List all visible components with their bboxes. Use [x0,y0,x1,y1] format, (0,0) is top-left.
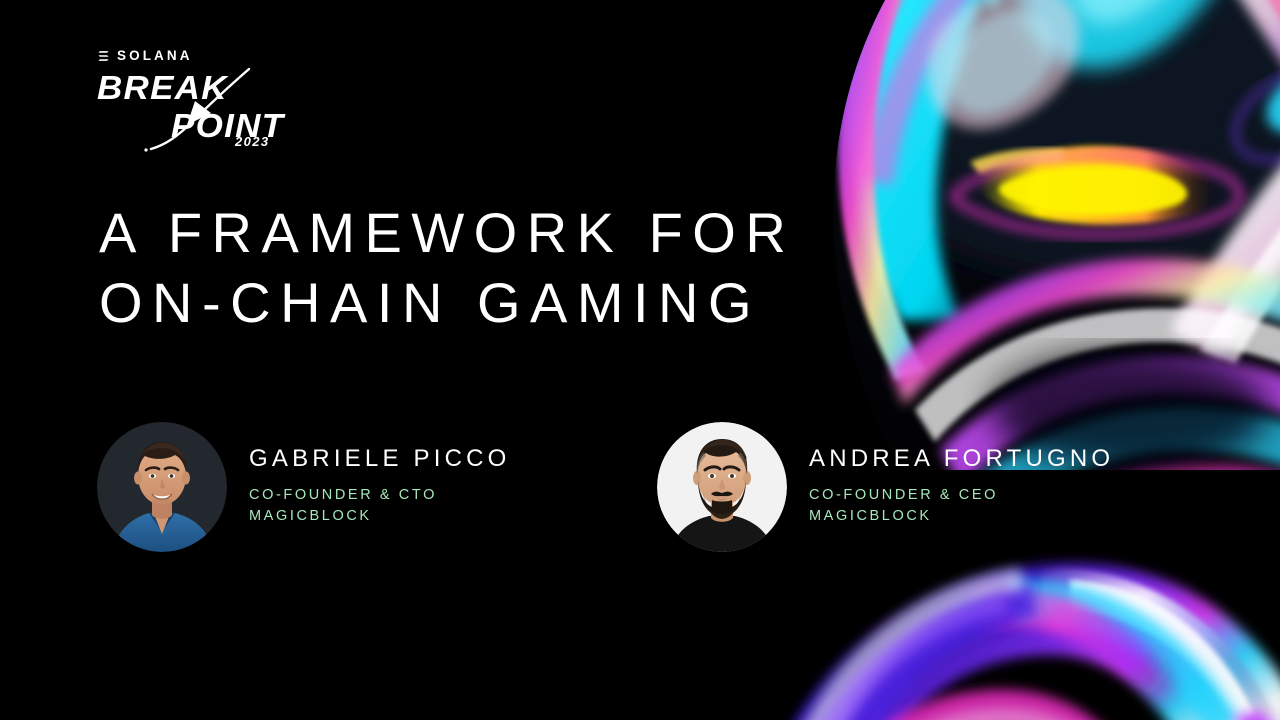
solana-wordmark: SOLANA [117,49,193,63]
presentation-slide: SOLANA BREAK POINT 2023 A FRAMEWORK FOR … [0,0,1280,720]
speaker-role: CO-FOUNDER & CEO [809,485,1114,506]
speaker-portrait-icon [97,422,227,552]
speaker-card: GABRIELE PICCO CO-FOUNDER & CTO MAGICBLO… [97,422,511,552]
breakpoint-wordmark: BREAK POINT 2023 [97,71,327,143]
speaker-card: ANDREA FORTUGNO CO-FOUNDER & CEO MAGICBL… [657,422,1114,552]
speaker-list: GABRIELE PICCO CO-FOUNDER & CTO MAGICBLO… [0,418,1280,563]
speaker-info: GABRIELE PICCO CO-FOUNDER & CTO MAGICBLO… [249,447,511,527]
speaker-role: CO-FOUNDER & CTO [249,485,511,506]
speaker-info: ANDREA FORTUGNO CO-FOUNDER & CEO MAGICBL… [809,447,1114,527]
breakpoint-logo: SOLANA BREAK POINT 2023 [97,48,327,144]
page-title: A FRAMEWORK FOR ON-CHAIN GAMING [99,198,799,338]
solana-logo: SOLANA [97,48,327,64]
logo-year-text: 2023 [235,135,270,148]
title-line-1: A FRAMEWORK FOR [99,198,799,268]
speaker-name: ANDREA FORTUGNO [809,447,1114,471]
avatar [657,422,787,552]
avatar [97,422,227,552]
speaker-portrait-icon [657,422,787,552]
logo-break-text: BREAK [97,71,228,104]
speaker-org: MAGICBLOCK [809,506,1114,527]
solana-bars-icon [97,50,110,63]
speaker-name: GABRIELE PICCO [249,447,511,471]
speaker-org: MAGICBLOCK [249,506,511,527]
title-line-2: ON-CHAIN GAMING [99,268,799,338]
